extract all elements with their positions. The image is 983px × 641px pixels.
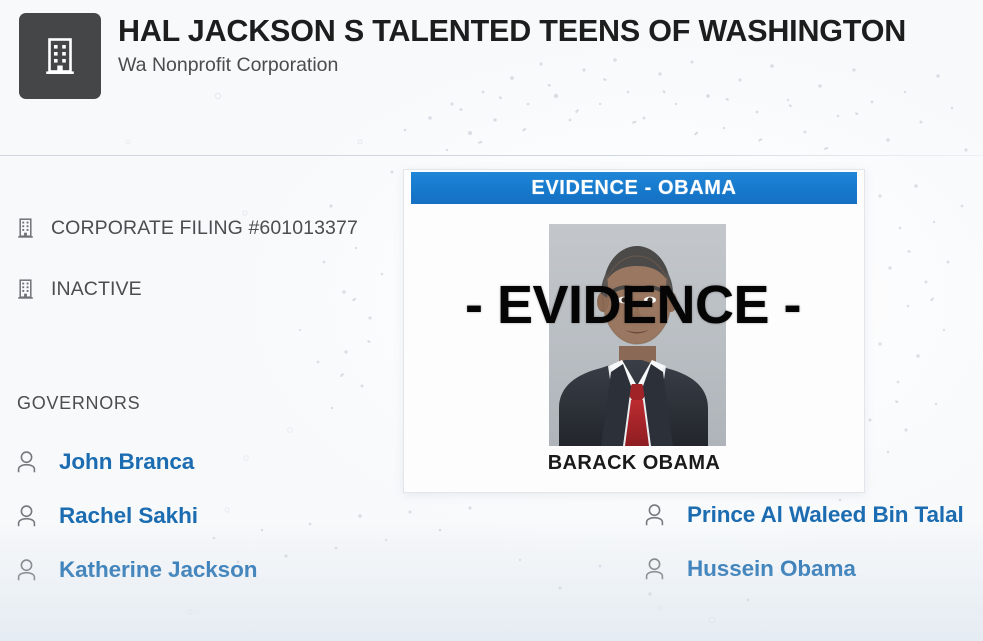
governor-link[interactable]: John Branca	[59, 449, 194, 475]
filing-meta-list: CORPORATE FILING #601013377 INACTIVE	[17, 214, 437, 336]
person-icon	[645, 558, 669, 580]
governor-link[interactable]: Prince Al Waleed Bin Talal	[687, 502, 964, 528]
status-badge: INACTIVE	[51, 278, 142, 301]
list-item[interactable]: John Branca	[17, 445, 377, 479]
org-subtitle: Wa Nonprofit Corporation	[118, 53, 968, 78]
person-icon	[17, 451, 41, 473]
office-building-icon	[43, 36, 77, 76]
header-divider	[0, 155, 983, 156]
office-building-icon	[17, 218, 39, 239]
page-title: HAL JACKSON S TALENTED TEENS OF WASHINGT…	[118, 12, 968, 51]
governor-link[interactable]: Katherine Jackson	[59, 557, 257, 583]
office-building-icon	[17, 279, 39, 300]
governor-link[interactable]: Hussein Obama	[687, 556, 856, 582]
org-title-block: HAL JACKSON S TALENTED TEENS OF WASHINGT…	[118, 12, 968, 78]
governors-list-left: John Branca Rachel Sakhi Katherine Jacks…	[17, 445, 377, 607]
list-item[interactable]: Prince Al Waleed Bin Talal	[645, 498, 983, 532]
governor-link[interactable]: Rachel Sakhi	[59, 503, 198, 529]
evidence-stamp-overlay: - EVIDENCE -	[403, 278, 863, 332]
company-record-page: HAL JACKSON S TALENTED TEENS OF WASHINGT…	[0, 0, 983, 641]
evidence-caption: BARACK OBAMA	[404, 452, 864, 475]
evidence-card-title: EVIDENCE - OBAMA	[531, 177, 736, 200]
org-logo-tile	[19, 13, 101, 99]
evidence-card-header: EVIDENCE - OBAMA	[411, 172, 857, 204]
person-icon	[17, 505, 41, 527]
list-item[interactable]: Katherine Jackson	[17, 553, 377, 587]
governors-list-right: Prince Al Waleed Bin Talal Hussein Obama	[645, 498, 983, 606]
meta-row-status: INACTIVE	[17, 275, 437, 303]
meta-row-filing-number: CORPORATE FILING #601013377	[17, 214, 437, 242]
list-item[interactable]: Rachel Sakhi	[17, 499, 377, 533]
governors-heading: GOVERNORS	[17, 393, 140, 414]
list-item[interactable]: Hussein Obama	[645, 552, 983, 586]
meta-label-filing-number: CORPORATE FILING #601013377	[51, 217, 358, 240]
person-icon	[17, 559, 41, 581]
portrait-photo	[549, 224, 726, 446]
person-icon	[645, 504, 669, 526]
page-header: HAL JACKSON S TALENTED TEENS OF WASHINGT…	[0, 0, 983, 155]
